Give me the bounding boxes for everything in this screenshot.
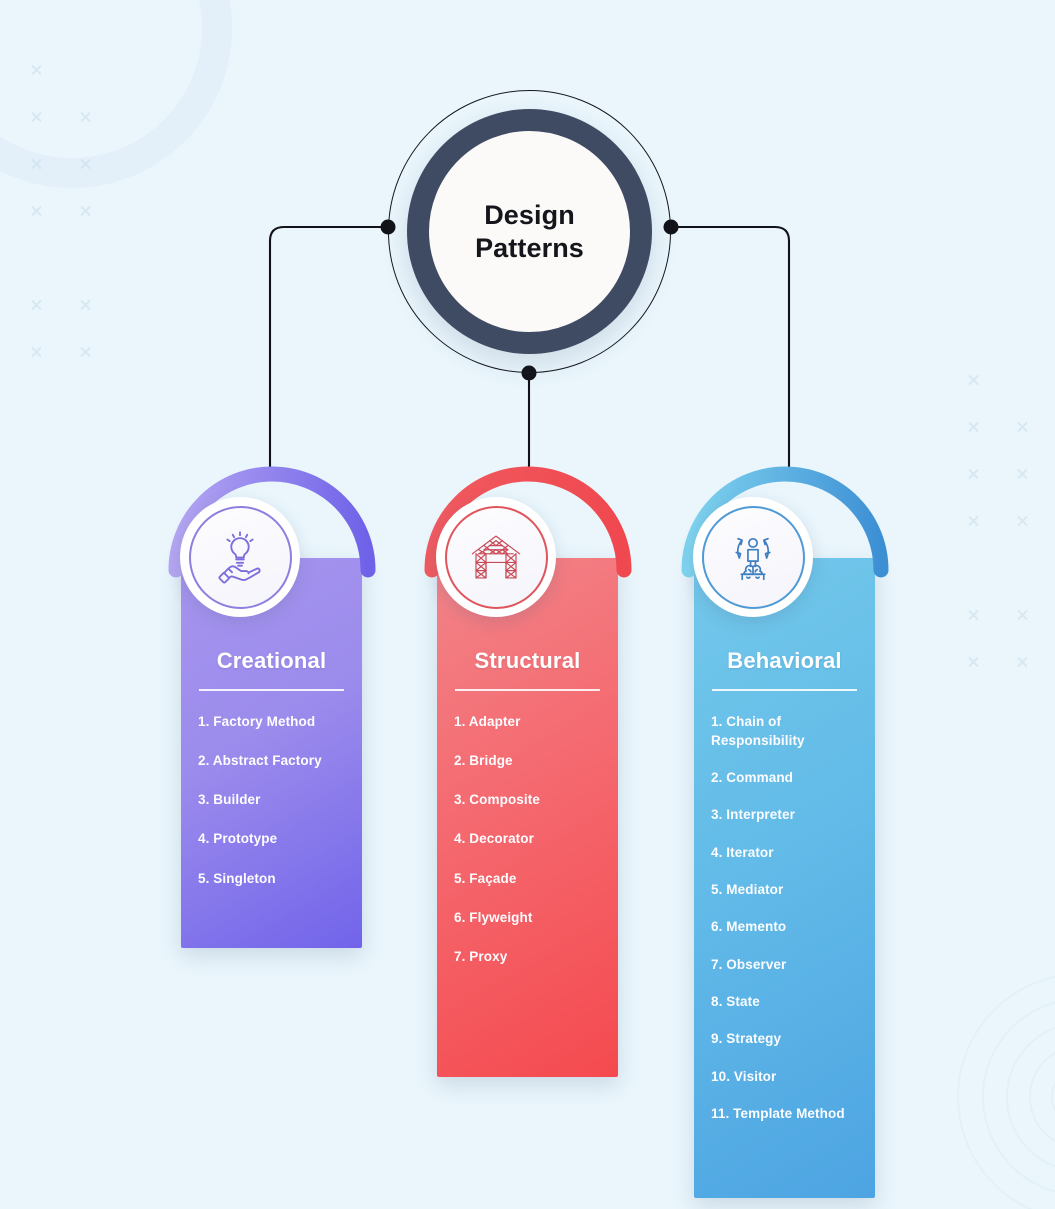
card-structural[interactable]: Structural 1. Adapter 2. Bridge 3. Compo… [437, 558, 618, 1077]
pattern-list-structural: 1. Adapter 2. Bridge 3. Composite 4. Dec… [437, 712, 618, 967]
list-item[interactable]: 9. Strategy [711, 1029, 865, 1048]
list-item[interactable]: 3. Composite [454, 790, 608, 809]
hub-title-line-2: Patterns [475, 233, 584, 263]
column-creational[interactable]: Creational 1. Factory Method 2. Abstract… [181, 558, 362, 948]
list-item[interactable]: 2. Abstract Factory [198, 751, 352, 770]
card-behavioral[interactable]: Behavioral 1. Chain of Responsibility 2.… [694, 558, 875, 1198]
divider-creational [199, 689, 344, 691]
list-item[interactable]: 11. Template Method [711, 1104, 865, 1123]
list-item[interactable]: 2. Bridge [454, 751, 608, 770]
list-item[interactable]: 2. Command [711, 768, 865, 787]
page-title: Design Patterns [475, 199, 584, 265]
list-item[interactable]: 4. Iterator [711, 843, 865, 862]
column-structural[interactable]: Structural 1. Adapter 2. Bridge 3. Compo… [437, 558, 618, 1077]
hub-ring: Design Patterns [407, 109, 652, 354]
list-item[interactable]: 7. Proxy [454, 947, 608, 966]
icon-circle-structural [436, 497, 556, 617]
pattern-list-behavioral: 1. Chain of Responsibility 2. Command 3.… [694, 712, 875, 1124]
hub-title-line-1: Design [484, 200, 575, 230]
card-title-behavioral: Behavioral [694, 650, 875, 672]
list-item[interactable]: 3. Interpreter [711, 805, 865, 824]
hand-lightbulb-icon [189, 506, 292, 609]
list-item[interactable]: 6. Flyweight [454, 908, 608, 927]
list-item[interactable]: 4. Decorator [454, 829, 608, 848]
list-item[interactable]: 5. Façade [454, 869, 608, 888]
card-creational[interactable]: Creational 1. Factory Method 2. Abstract… [181, 558, 362, 948]
badge-structural [405, 462, 650, 642]
icon-circle-behavioral [693, 497, 813, 617]
pattern-list-creational: 1. Factory Method 2. Abstract Factory 3.… [181, 712, 362, 888]
list-item[interactable]: 1. Factory Method [198, 712, 352, 731]
list-item[interactable]: 1. Adapter [454, 712, 608, 731]
list-item[interactable]: 5. Singleton [198, 869, 352, 888]
card-title-creational: Creational [181, 650, 362, 672]
list-item[interactable]: 5. Mediator [711, 880, 865, 899]
list-item[interactable]: 4. Prototype [198, 829, 352, 848]
card-title-structural: Structural [437, 650, 618, 672]
list-item[interactable]: 7. Observer [711, 955, 865, 974]
icon-circle-creational [180, 497, 300, 617]
divider-behavioral [712, 689, 857, 691]
column-behavioral[interactable]: Behavioral 1. Chain of Responsibility 2.… [694, 558, 875, 1198]
house-frame-icon [445, 506, 548, 609]
list-item[interactable]: 1. Chain of Responsibility [711, 712, 865, 751]
list-item[interactable]: 10. Visitor [711, 1067, 865, 1086]
list-item[interactable]: 3. Builder [198, 790, 352, 809]
badge-creational [149, 462, 394, 642]
divider-structural [455, 689, 600, 691]
list-item[interactable]: 8. State [711, 992, 865, 1011]
badge-behavioral [662, 462, 907, 642]
hub-node: Design Patterns [388, 90, 671, 373]
person-brain-cycle-icon [702, 506, 805, 609]
list-item[interactable]: 6. Memento [711, 917, 865, 936]
